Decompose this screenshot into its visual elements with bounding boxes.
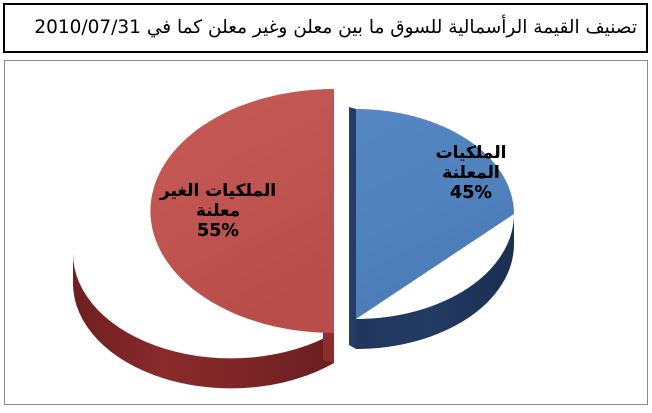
pie-slice-announced[interactable]	[349, 107, 514, 349]
chart-plot-area: الملكيات المعلنة 45% الملكيات الغير معلن…	[4, 60, 648, 405]
chart-title: تصنيف القيمة الرأسمالية للسوق ما بين معل…	[14, 18, 637, 38]
pie-slice-announced-left-wall	[349, 107, 356, 349]
pie-chart-3d	[5, 61, 647, 404]
pie-slice-unannounced-top	[150, 89, 334, 333]
pie-slice-unannounced-inner-wall	[323, 330, 334, 363]
chart-title-box: تصنيف القيمة الرأسمالية للسوق ما بين معل…	[3, 3, 648, 53]
chart-page: تصنيف القيمة الرأسمالية للسوق ما بين معل…	[0, 0, 652, 413]
pie-slice-unannounced[interactable]	[73, 89, 334, 388]
